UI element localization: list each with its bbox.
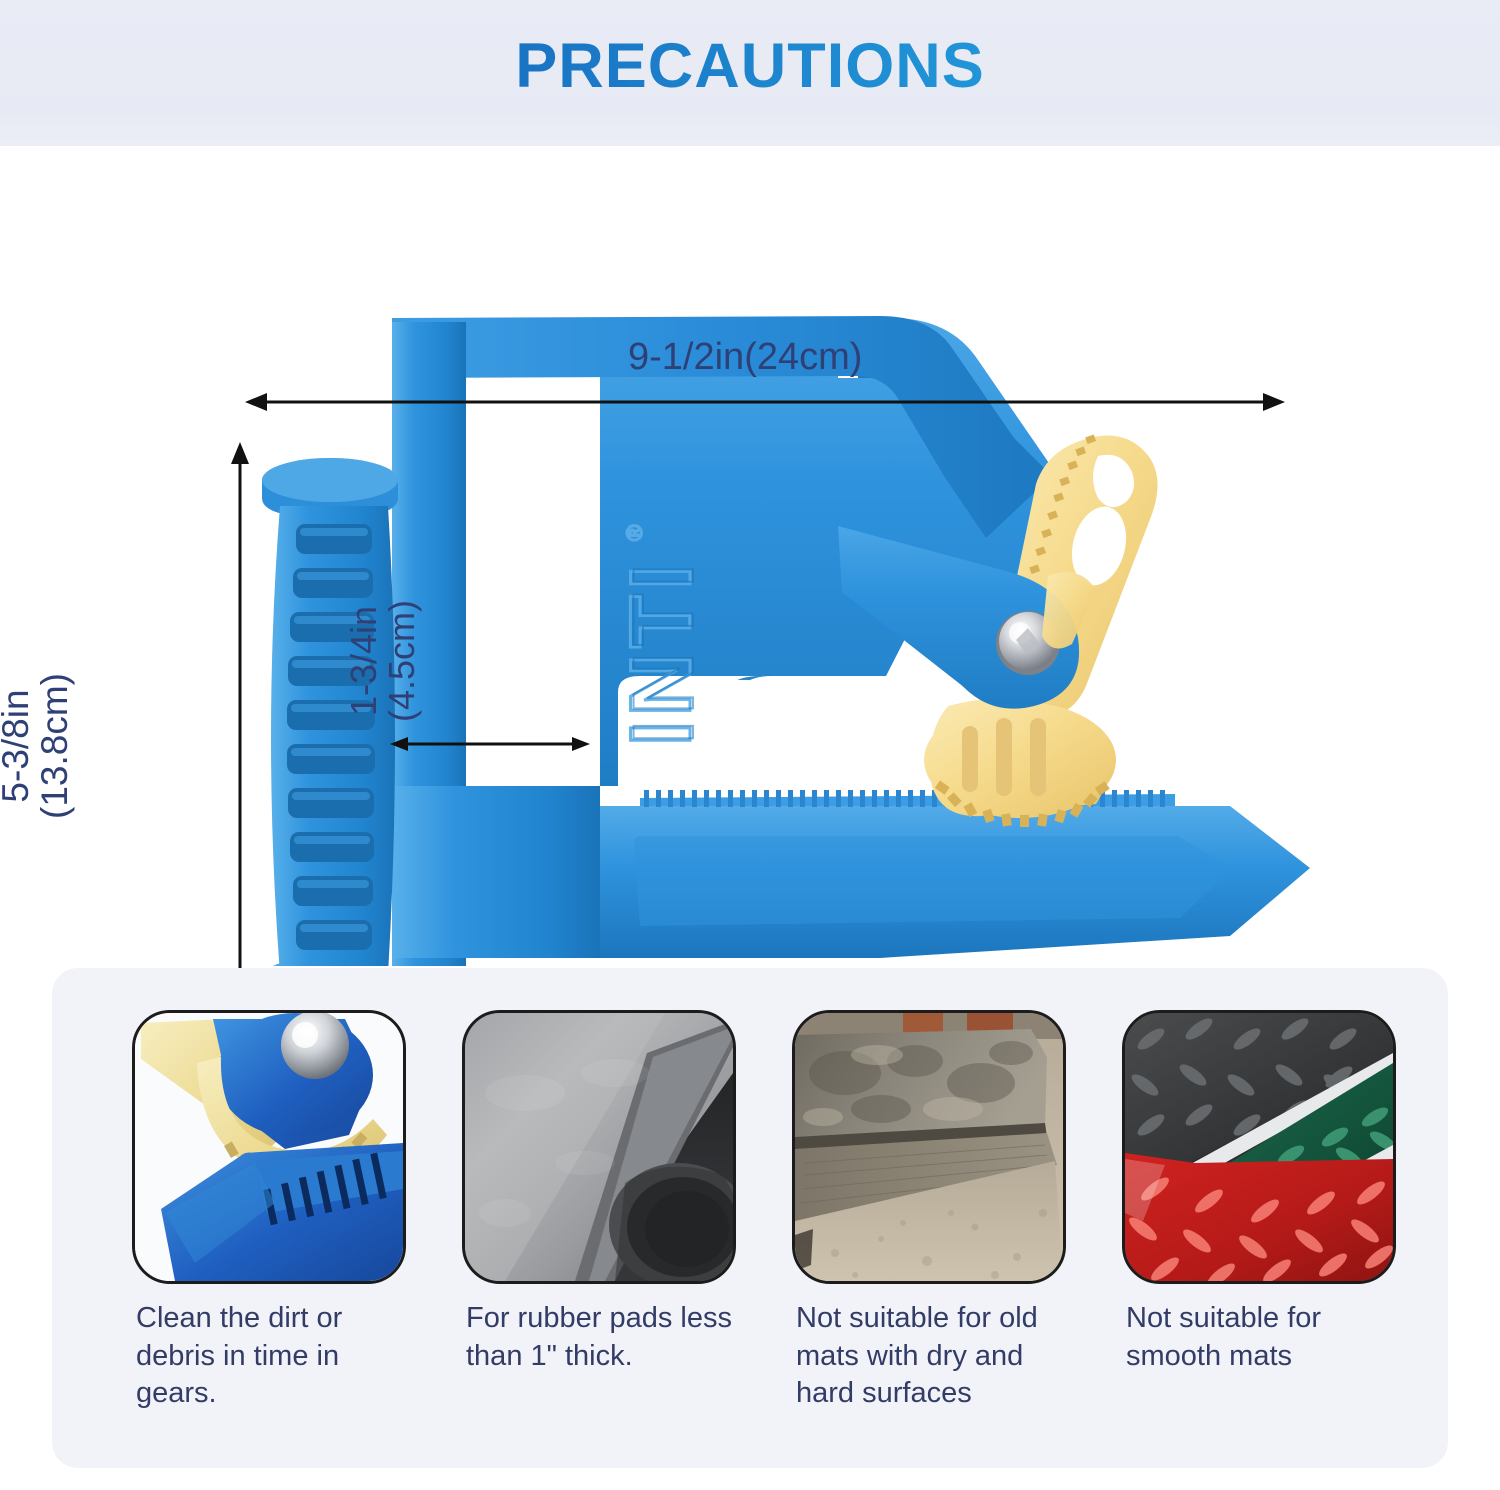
precaution-caption-smooth-mats: Not suitable for smooth mats [1126,1300,1416,1375]
precaution-list: Clean the dirt or debris in time in gear… [52,968,1448,1468]
inner-gap-dimension-label: 1-3/4in (4.5cm) [345,546,421,776]
precaution-caption-pad-thickness: For rubber pads less than 1" thick. [466,1300,756,1375]
svg-text:INTI: INTI [616,558,712,744]
svg-text:®: ® [622,525,647,541]
width-dimension-label: 9-1/2in(24cm) [628,336,862,379]
width-dimension-arrow [245,390,1285,414]
inner-gap-metric: (4.5cm) [381,600,422,722]
product-diagram: INTI INTI ® [0,146,1500,966]
precaution-item-smooth-mats: Not suitable for smooth mats [1064,1010,1390,1430]
page-title: PRECAUTIONS [0,30,1500,102]
precaution-caption-clean-gears: Clean the dirt or debris in time in gear… [136,1300,426,1413]
height-dimension-metric: (13.8cm) [34,673,75,819]
gear-closeup-photo [132,1010,406,1284]
height-dimension-imperial: 5-3/8in [0,689,36,802]
precaution-caption-old-dry-mats: Not suitable for old mats with dry and h… [796,1300,1086,1413]
old-dry-mat-photo [792,1010,1066,1284]
height-dimension-arrow [228,442,252,1042]
brand-emboss-inti: INTI INTI ® [613,525,712,746]
height-dimension-label: 5-3/8in (13.8cm) [0,616,74,876]
precaution-item-pad-thickness: For rubber pads less than 1" thick. [404,1010,730,1430]
mat-cutter-tool-illustration: INTI INTI ® [0,146,1500,966]
precaution-item-old-dry-mats: Not suitable for old mats with dry and h… [734,1010,1060,1430]
precaution-item-clean-gears: Clean the dirt or debris in time in gear… [74,1010,400,1430]
inner-gap-imperial: 1-3/4in [343,606,384,716]
header-band: PRECAUTIONS [0,0,1500,146]
precaution-card: Clean the dirt or debris in time in gear… [52,968,1448,1468]
rolled-rubber-mat-photo [462,1010,736,1284]
diamond-plate-mats-photo [1122,1010,1396,1284]
